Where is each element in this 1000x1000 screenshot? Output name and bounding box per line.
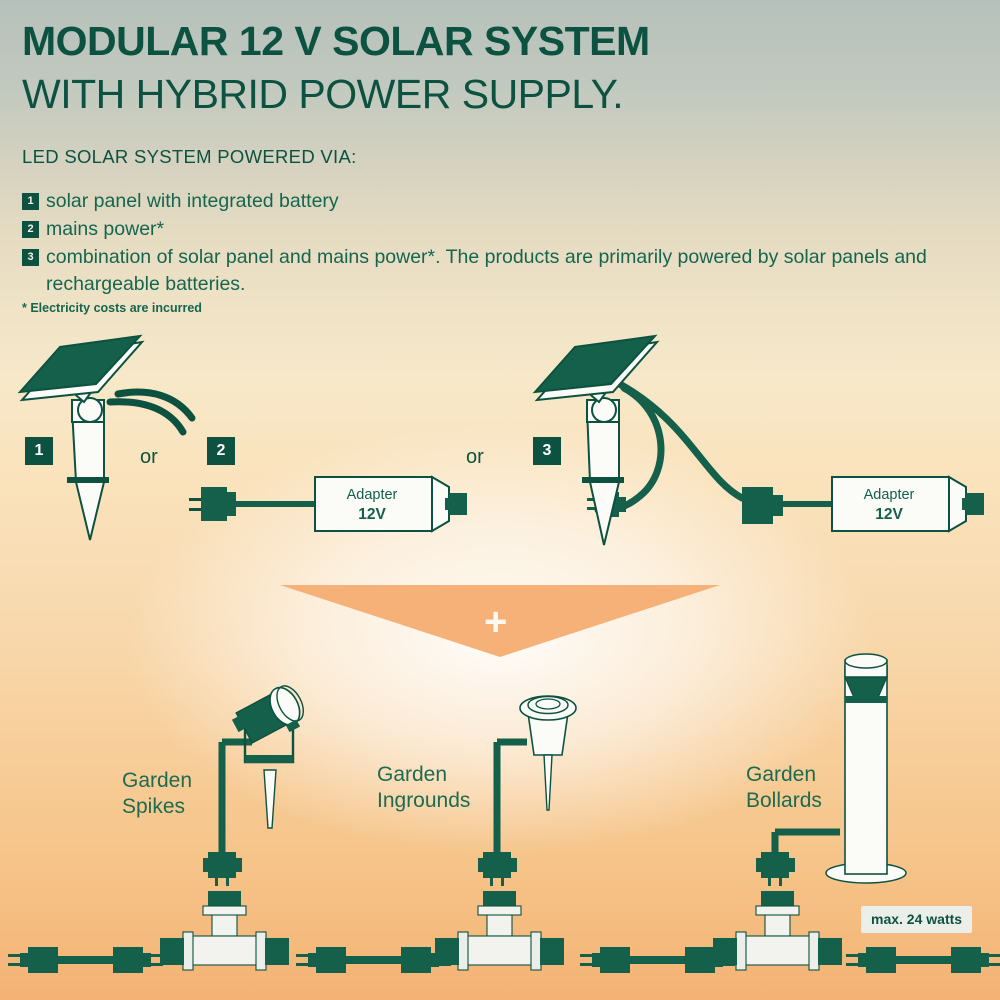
plug-collar [981,953,989,967]
prong-icon [989,954,1000,957]
tee-collar-left [458,932,468,970]
plug-collar [511,858,517,872]
prong-icon [580,954,592,957]
inground-lens [536,699,560,709]
tee-collar-right [809,932,819,970]
tee-riser-collar [756,906,799,915]
plug-body [483,852,511,878]
prong-icon [501,878,504,886]
tee-connector [742,487,773,524]
tee-riser [765,912,790,936]
plug-collar [227,492,236,516]
plug-body [761,852,789,878]
product-garden-inground [478,696,576,886]
tee-riser [487,912,512,936]
tee-plug-left [435,938,459,965]
cable-icon [346,956,401,964]
plug-collar [789,858,795,872]
prong-icon [189,498,201,501]
plug-body [600,947,630,973]
product-label-line2: Ingrounds [377,788,470,814]
bracket-base [245,755,293,763]
prong-icon [296,963,308,966]
tee-body [183,936,266,965]
ground-plate [582,477,624,483]
prong-icon [846,954,858,957]
ground-spike [264,770,276,828]
product-garden-spike [203,681,312,886]
prong-icon [215,878,218,886]
cable-icon [630,956,685,964]
tee-collar-right [256,932,266,970]
adapter-name: Adapter [317,485,427,505]
option-badge-2: 2 [207,437,235,465]
pivot-joint [78,398,102,422]
prong-icon [580,963,592,966]
tee-collar-right [531,932,541,970]
tee-plug-right [818,938,842,965]
adapter-volts: 12V [358,506,386,523]
product-label-garden-spikes: Garden Spikes [122,768,192,820]
infographic-canvas: MODULAR 12 V SOLAR SYSTEM WITH HYBRID PO… [0,0,1000,1000]
or-separator-1: or [140,446,158,469]
product-label-line1: Garden [377,762,470,788]
adapter-volts: 12V [875,506,903,523]
adapter-label-left: Adapter 12V [317,485,427,525]
plug-body [113,947,143,973]
cable-icon [783,501,832,507]
plug-body [685,947,715,973]
tee-plug-right [540,938,564,965]
cable-icon [896,956,951,964]
tee-plug-right [265,938,289,965]
bollard-cap-top [845,654,887,668]
plug-body [28,947,58,973]
tee-riser-collar [203,906,246,915]
cable-icon [236,501,315,507]
connector-body [449,493,467,515]
prong-icon [8,954,20,957]
plug-body [951,947,981,973]
tee-body [736,936,819,965]
bus-cable-segment [296,947,451,973]
bus-tee-2 [435,891,564,970]
bus-cable-segment [846,947,1000,973]
plug-body [208,852,236,878]
prong-icon [490,878,493,886]
product-label-garden-ingrounds: Garden Ingrounds [377,762,470,814]
bollard-reflector-band [845,696,887,703]
prong-icon [189,508,201,511]
plug-body [201,487,227,521]
tee-riser [212,912,237,936]
plug-collar [756,858,762,872]
tee-collar-left [736,932,746,970]
prong-icon [989,963,1000,966]
tee-body [458,936,541,965]
option-badge-1: 1 [25,437,53,465]
option-badge-3: 3 [533,437,561,465]
plug-collar [203,858,209,872]
ground-spike [544,755,552,810]
product-label-line2: Bollards [746,788,822,814]
connector-collar [962,498,967,510]
bus-tee-1 [160,891,289,970]
spike-shaft [587,408,619,545]
plug-collar [592,953,600,967]
product-label-line1: Garden [746,762,822,788]
plug-collar [619,497,626,512]
adapter-label-right: Adapter 12V [834,485,944,525]
plus-sign: + [484,602,507,642]
pivot-joint [592,398,616,422]
cable-icon [110,402,183,432]
or-separator-2: or [466,446,484,469]
plug-body [316,947,346,973]
plug-collar [20,953,28,967]
tee-plug-left [713,938,737,965]
product-label-line2: Spikes [122,794,192,820]
bus-tee-3 [713,891,842,970]
prong-icon [779,878,782,886]
max-watts-badge: max. 24 watts [861,906,972,933]
plug-body [866,947,896,973]
prong-icon [8,963,20,966]
plug-collar [858,953,866,967]
plug-collar [478,858,484,872]
plug-collar [308,953,316,967]
bus-cable-segment [8,947,163,973]
spike-shaft [72,408,104,540]
tee-plug-left [160,938,184,965]
prong-icon [226,878,229,886]
product-label-garden-bollards: Garden Bollards [746,762,822,814]
plug-collar [143,953,151,967]
plug-body [401,947,431,973]
product-label-line1: Garden [122,768,192,794]
connector-collar [445,498,450,510]
prong-icon [846,963,858,966]
prong-icon [768,878,771,886]
prong-icon [296,954,308,957]
adapter-name: Adapter [834,485,944,505]
tee-riser-collar [478,906,521,915]
ground-plate [67,477,109,483]
tee-collar-left [183,932,193,970]
plug-collar [236,858,242,872]
cable-icon [58,956,113,964]
connector-collar [773,495,783,516]
bus-cable-segment [580,947,735,973]
connector-body [966,493,984,515]
